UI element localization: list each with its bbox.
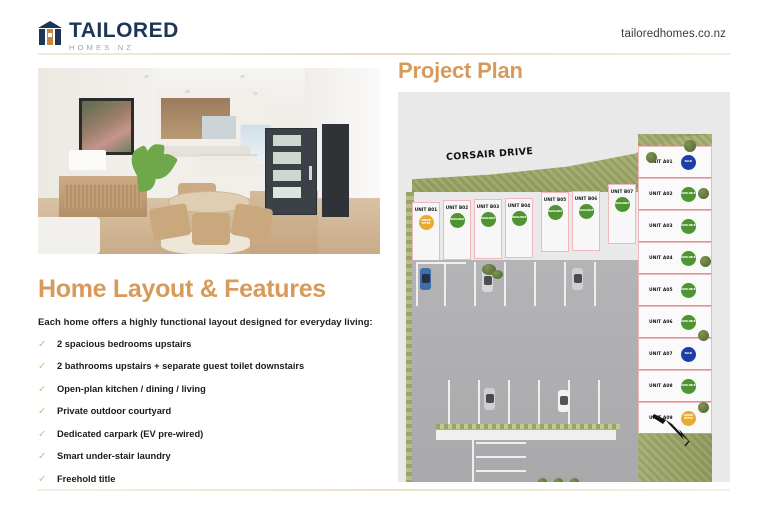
feature-label: Open-plan kitchen / dining / living: [57, 384, 206, 395]
logo-title: TAILORED: [69, 20, 179, 41]
check-icon: ✓: [38, 384, 49, 395]
tree-icon: [684, 140, 696, 152]
status-badge: AVAILABLE: [450, 213, 465, 228]
shrub-icon: [538, 478, 547, 482]
unit-lot-b07[interactable]: UNIT B07 AVAILABLE: [608, 184, 636, 244]
site-plan-map[interactable]: UNIT B01 UNDER OFFER UNIT B02 AVAILABLE …: [398, 92, 730, 482]
list-item: ✓ Freehold title: [38, 474, 380, 485]
tree-icon: [646, 152, 657, 163]
brochure-page: TAILORED HOMES NZ tailoredhomes.co.nz: [0, 0, 768, 512]
entry-door: [265, 128, 316, 215]
check-icon: ✓: [38, 429, 49, 440]
car-icon: [572, 268, 583, 290]
feature-label: 2 spacious bedrooms upstairs: [57, 339, 191, 350]
status-badge: SOLD: [681, 155, 696, 170]
status-badge: AVAILABLE: [579, 204, 594, 219]
unit-lot-b02[interactable]: UNIT B02 AVAILABLE: [443, 200, 471, 260]
unit-label: UNIT B07: [611, 189, 634, 194]
shrub-icon: [492, 270, 503, 279]
unit-label: UNIT B02: [446, 205, 469, 210]
car-icon: [558, 390, 569, 412]
feature-list: ✓ 2 spacious bedrooms upstairs ✓ 2 bathr…: [38, 339, 380, 485]
car-icon: [420, 268, 431, 290]
list-item: ✓ Dedicated carpark (EV pre-wired): [38, 429, 380, 440]
list-item: ✓ 2 spacious bedrooms upstairs: [38, 339, 380, 350]
unit-lot-b05[interactable]: UNIT B05 AVAILABLE: [541, 192, 569, 252]
feature-label: Smart under-stair laundry: [57, 451, 171, 462]
unit-label: UNIT A02: [649, 192, 673, 197]
shrub-icon: [554, 478, 563, 482]
unit-label: UNIT A06: [649, 320, 673, 325]
unit-lot-a03[interactable]: UNIT A03 AVAILABLE: [638, 210, 712, 242]
check-icon: ✓: [38, 406, 49, 417]
footer-divider: [38, 489, 730, 491]
parking-bay-lines: [412, 260, 638, 482]
framed-artwork: [79, 98, 134, 156]
north-arrow-icon: [650, 404, 706, 448]
unit-lot-b06[interactable]: UNIT B06 AVAILABLE: [572, 191, 600, 251]
page-title: Home Layout & Features: [38, 276, 380, 304]
house-logo-icon: [38, 21, 62, 45]
unit-label: UNIT A03: [649, 224, 673, 229]
list-item: ✓ 2 bathrooms upstairs + separate guest …: [38, 361, 380, 372]
unit-lot-a08[interactable]: UNIT A08 AVAILABLE: [638, 370, 712, 402]
car-icon: [484, 388, 495, 410]
carpark-area: [412, 260, 638, 482]
unit-label: UNIT A04: [649, 256, 673, 261]
tree-icon: [698, 188, 709, 199]
feature-label: Private outdoor courtyard: [57, 406, 171, 417]
status-badge: AVAILABLE: [481, 212, 496, 227]
unit-label: UNIT B01: [415, 207, 438, 212]
logo-subtitle: HOMES NZ: [69, 44, 179, 52]
unit-label: UNIT A07: [649, 352, 673, 357]
left-column: Home Layout & Features Each home offers …: [38, 68, 380, 496]
status-badge: SOLD: [681, 347, 696, 362]
status-badge: AVAILABLE: [681, 315, 696, 330]
unit-lot-b01[interactable]: UNIT B01 UNDER OFFER: [412, 202, 440, 262]
status-badge: AVAILABLE: [615, 197, 630, 212]
shrub-icon: [570, 478, 579, 482]
brand-logo[interactable]: TAILORED HOMES NZ: [38, 20, 179, 52]
status-badge: AVAILABLE: [548, 205, 563, 220]
page-header: TAILORED HOMES NZ tailoredhomes.co.nz: [0, 0, 768, 54]
feature-label: Dedicated carpark (EV pre-wired): [57, 429, 203, 440]
unit-lot-a05[interactable]: UNIT A05 AVAILABLE: [638, 274, 712, 306]
feature-label: 2 bathrooms upstairs + separate guest to…: [57, 361, 304, 372]
status-badge: AVAILABLE: [512, 211, 527, 226]
project-plan-title: Project Plan: [398, 58, 730, 84]
unit-label: UNIT B06: [575, 196, 598, 201]
unit-lot-b04[interactable]: UNIT B04 AVAILABLE: [505, 198, 533, 258]
status-badge: UNDER OFFER: [419, 215, 434, 230]
unit-lot-b03[interactable]: UNIT B03 AVAILABLE: [474, 199, 502, 259]
status-badge: AVAILABLE: [681, 187, 696, 202]
status-badge: AVAILABLE: [681, 379, 696, 394]
list-item: ✓ Private outdoor courtyard: [38, 406, 380, 417]
tree-icon: [698, 330, 709, 341]
check-icon: ✓: [38, 361, 49, 372]
unit-label: UNIT B04: [508, 203, 531, 208]
right-column: Project Plan UNIT B01 UNDER OFFER UNIT B…: [398, 58, 730, 482]
unit-label: UNIT B05: [544, 197, 567, 202]
status-badge: AVAILABLE: [681, 283, 696, 298]
check-icon: ✓: [38, 339, 49, 350]
website-url[interactable]: tailoredhomes.co.nz: [621, 28, 726, 40]
intro-text: Each home offers a highly functional lay…: [38, 317, 380, 328]
street-label-corsair: CORSAIR DRIVE: [446, 146, 534, 163]
unit-label: UNIT A05: [649, 288, 673, 293]
unit-label: UNIT B03: [477, 204, 500, 209]
feature-label: Freehold title: [57, 474, 115, 485]
indoor-plant: [130, 144, 178, 200]
check-icon: ✓: [38, 474, 49, 485]
interior-photo: [38, 68, 380, 254]
unit-row-b: UNIT B01 UNDER OFFER UNIT B02 AVAILABLE …: [412, 188, 670, 262]
header-divider: [38, 53, 730, 55]
unit-lot-a07[interactable]: UNIT A07 SOLD: [638, 338, 712, 370]
status-badge: AVAILABLE: [681, 251, 696, 266]
list-item: ✓ Smart under-stair laundry: [38, 451, 380, 462]
status-badge: AVAILABLE: [681, 219, 696, 234]
check-icon: ✓: [38, 451, 49, 462]
unit-label: UNIT A08: [649, 384, 673, 389]
list-item: ✓ Open-plan kitchen / dining / living: [38, 384, 380, 395]
tree-icon: [700, 256, 711, 267]
